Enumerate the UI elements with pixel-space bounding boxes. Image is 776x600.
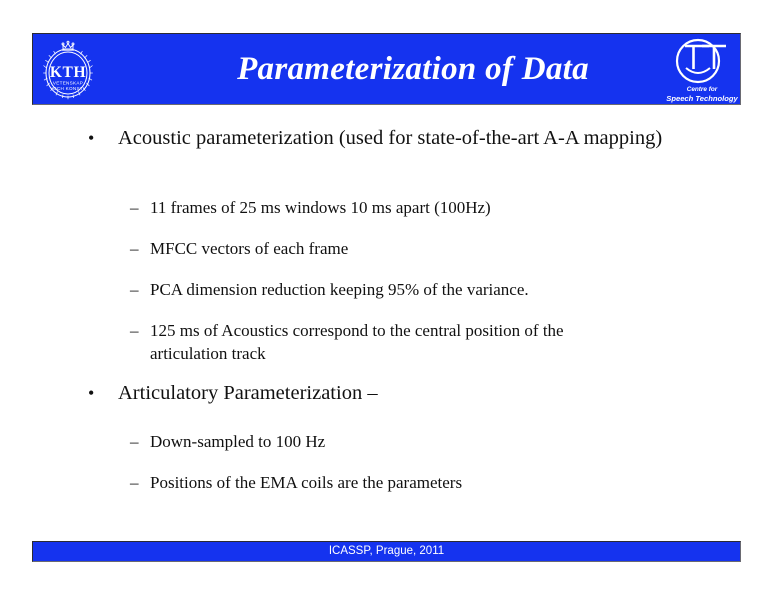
sub-bullet-item: – 125 ms of Acoustics correspond to the … (130, 319, 630, 365)
dash-marker-icon: – (130, 319, 139, 342)
svg-text:VETENSKAP: VETENSKAP (53, 81, 83, 86)
dash-marker-icon: – (130, 430, 139, 453)
sub-bullet-text: Down-sampled to 100 Hz (150, 430, 690, 453)
sub-bullet-text: 125 ms of Acoustics correspond to the ce… (150, 319, 630, 365)
svg-text:Centre for: Centre for (687, 86, 718, 93)
svg-text:OCH KONST: OCH KONST (53, 86, 83, 91)
bullet-text: Articulatory Parameterization – (118, 380, 688, 407)
slide-footer-bar: ICASSP, Prague, 2011 (32, 541, 741, 562)
bullet-item: • Articulatory Parameterization – (88, 380, 688, 407)
ctt-logo: Centre for Speech Technology (664, 35, 740, 105)
slide-canvas: KTH VETENSKAP OCH KONST Parameterization… (0, 0, 776, 600)
svg-text:KTH: KTH (50, 64, 86, 81)
bullet-marker-icon: • (88, 125, 94, 152)
bullet-text: Acoustic parameterization (used for stat… (118, 125, 688, 152)
bullet-item: • Acoustic parameterization (used for st… (88, 125, 688, 152)
sub-bullet-item: – 11 frames of 25 ms windows 10 ms apart… (130, 196, 690, 219)
sub-bullet-text: PCA dimension reduction keeping 95% of t… (150, 278, 690, 301)
kth-logo: KTH VETENSKAP OCH KONST (37, 36, 103, 102)
bullet-marker-icon: • (88, 380, 94, 407)
dash-marker-icon: – (130, 237, 139, 260)
sub-bullet-text: 11 frames of 25 ms windows 10 ms apart (… (150, 196, 690, 219)
sub-bullet-item: – Positions of the EMA coils are the par… (130, 471, 690, 494)
sub-bullet-text: MFCC vectors of each frame (150, 237, 690, 260)
dash-marker-icon: – (130, 278, 139, 301)
dash-marker-icon: – (130, 471, 139, 494)
sub-bullet-item: – PCA dimension reduction keeping 95% of… (130, 278, 690, 301)
svg-text:Speech Technology: Speech Technology (666, 94, 738, 103)
sub-bullet-item: – Down-sampled to 100 Hz (130, 430, 690, 453)
sub-bullet-item: – MFCC vectors of each frame (130, 237, 690, 260)
page-title: Parameterization of Data (143, 34, 683, 104)
footer-text: ICASSP, Prague, 2011 (33, 542, 740, 561)
slide-body: • Acoustic parameterization (used for st… (0, 113, 776, 523)
sub-bullet-text: Positions of the EMA coils are the param… (150, 471, 690, 494)
dash-marker-icon: – (130, 196, 139, 219)
slide-title-bar: KTH VETENSKAP OCH KONST Parameterization… (32, 33, 741, 105)
